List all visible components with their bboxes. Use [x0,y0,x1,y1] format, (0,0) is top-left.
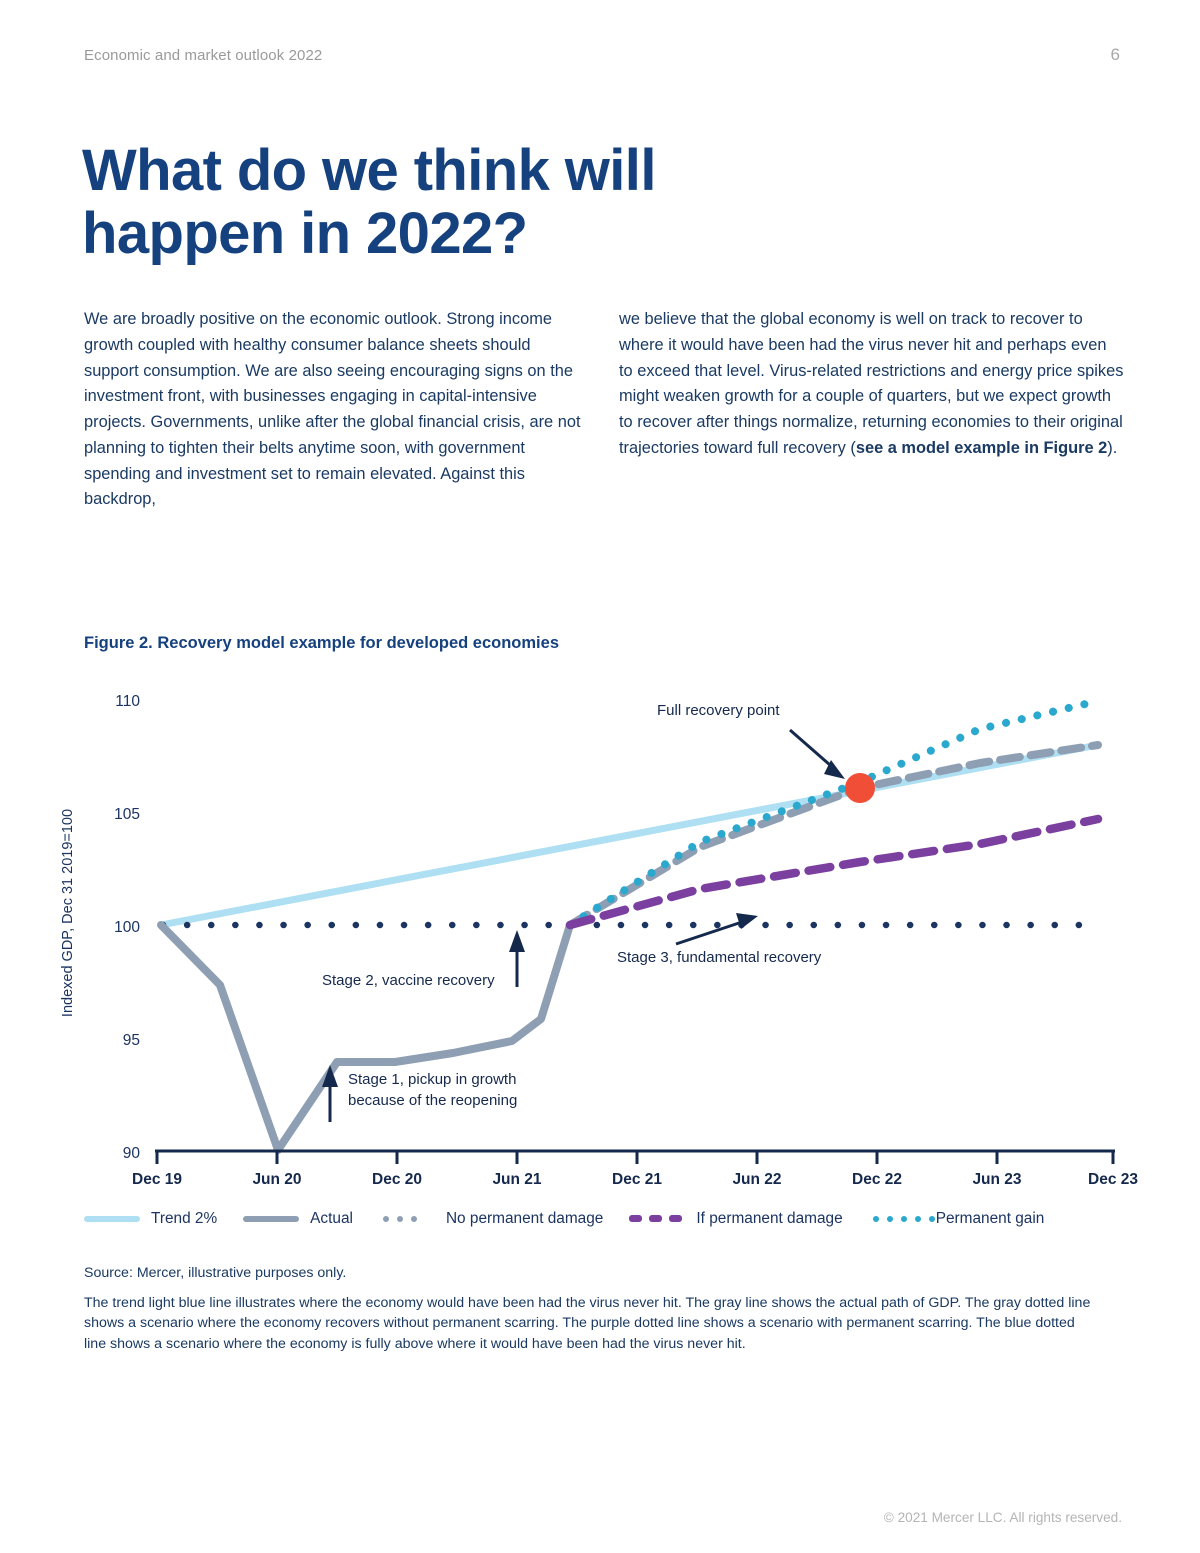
legend-label-actual: Actual [310,1210,353,1228]
legend-label-if-permanent-damage: If permanent damage [696,1210,842,1228]
body-column-right: we believe that the global economy is we… [619,307,1124,462]
x-tick-dec-21: Dec 21 [612,1171,662,1188]
x-axis-ticks [157,1151,1113,1164]
legend-swatch-if-permanent-damage [629,1212,685,1226]
body-right-emphasis: see a model example in Figure 2 [856,439,1107,457]
legend-label-no-permanent-damage: No permanent damage [446,1210,603,1228]
y-axis-tick-labels: 110 105 100 95 90 [114,693,140,1162]
y-tick-95: 95 [123,1032,140,1049]
annotation-stage1-line1: Stage 1, pickup in growth [348,1071,516,1088]
legend-swatch-permanent-gain [869,1212,925,1226]
chart-legend: Trend 2% Actual No permanent damage [84,1206,1124,1232]
full-recovery-point-marker [845,773,875,803]
x-tick-jun-20: Jun 20 [252,1171,301,1188]
annotation-full-recovery-label: Full recovery point [657,702,780,719]
page-number: 6 [1111,45,1120,65]
annotation-stage1-arrow [322,1065,338,1122]
legend-swatch-actual [243,1212,299,1226]
x-tick-dec-22: Dec 22 [852,1171,902,1188]
x-tick-jun-21: Jun 21 [492,1171,541,1188]
body-right-text-a: we believe that the global economy is we… [619,310,1123,457]
annotation-full-recovery-arrow [790,730,845,779]
series-actual [161,925,570,1150]
x-axis-tick-labels: Dec 19 Jun 20 Dec 20 Jun 21 Dec 21 Jun 2… [132,1171,1138,1188]
x-tick-dec-20: Dec 20 [372,1171,422,1188]
body-column-left: We are broadly positive on the economic … [84,307,584,513]
y-tick-90: 90 [123,1145,141,1162]
legend-item-actual[interactable]: Actual [243,1210,353,1228]
x-tick-dec-23: Dec 23 [1088,1171,1138,1188]
legend-label-trend: Trend 2% [151,1210,217,1228]
legend-item-trend[interactable]: Trend 2% [84,1210,217,1228]
legend-item-no-permanent-damage[interactable]: No permanent damage [379,1210,603,1228]
figure-source-block: Source: Mercer, illustrative purposes on… [84,1263,1094,1355]
legend-item-if-permanent-damage[interactable]: If permanent damage [629,1210,842,1228]
annotation-stage3-label: Stage 3, fundamental recovery [617,949,822,966]
legend-swatch-trend [84,1212,140,1226]
running-header-title: Economic and market outlook 2022 [84,47,322,64]
legend-label-permanent-gain: Permanent gain [936,1210,1045,1228]
footer-copyright: © 2021 Mercer LLC. All rights reserved. [884,1510,1122,1525]
source-line: Source: Mercer, illustrative purposes on… [84,1263,1094,1284]
y-tick-110: 110 [115,693,140,710]
y-tick-100: 100 [114,919,140,936]
legend-item-permanent-gain[interactable]: Permanent gain [869,1210,1045,1228]
y-tick-105: 105 [114,806,140,823]
legend-swatch-no-permanent-damage [379,1212,435,1226]
annotation-stage2-arrow [509,930,525,987]
annotation-stage1-line2: because of the reopening [348,1092,517,1109]
chart-canvas: 110 105 100 95 90 Full recovery point [0,672,1200,1212]
annotation-stage3-arrow [676,913,758,944]
page-title: What do we think will happen in 2022? [82,139,842,265]
figure-caption: Figure 2. Recovery model example for dev… [84,634,559,653]
series-permanent-gain [570,701,1098,925]
body-right-text-b: ). [1107,439,1117,457]
figure-2-chart: 110 105 100 95 90 Full recovery point [0,672,1200,1212]
document-page: Economic and market outlook 2022 6 What … [0,0,1200,1553]
x-tick-dec-19: Dec 19 [132,1171,182,1188]
x-tick-jun-23: Jun 23 [972,1171,1021,1188]
x-tick-jun-22: Jun 22 [732,1171,781,1188]
series-trend-2pct [161,745,1098,925]
annotation-stage2-label: Stage 2, vaccine recovery [322,972,495,989]
source-notes: The trend light blue line illustrates wh… [84,1293,1094,1355]
